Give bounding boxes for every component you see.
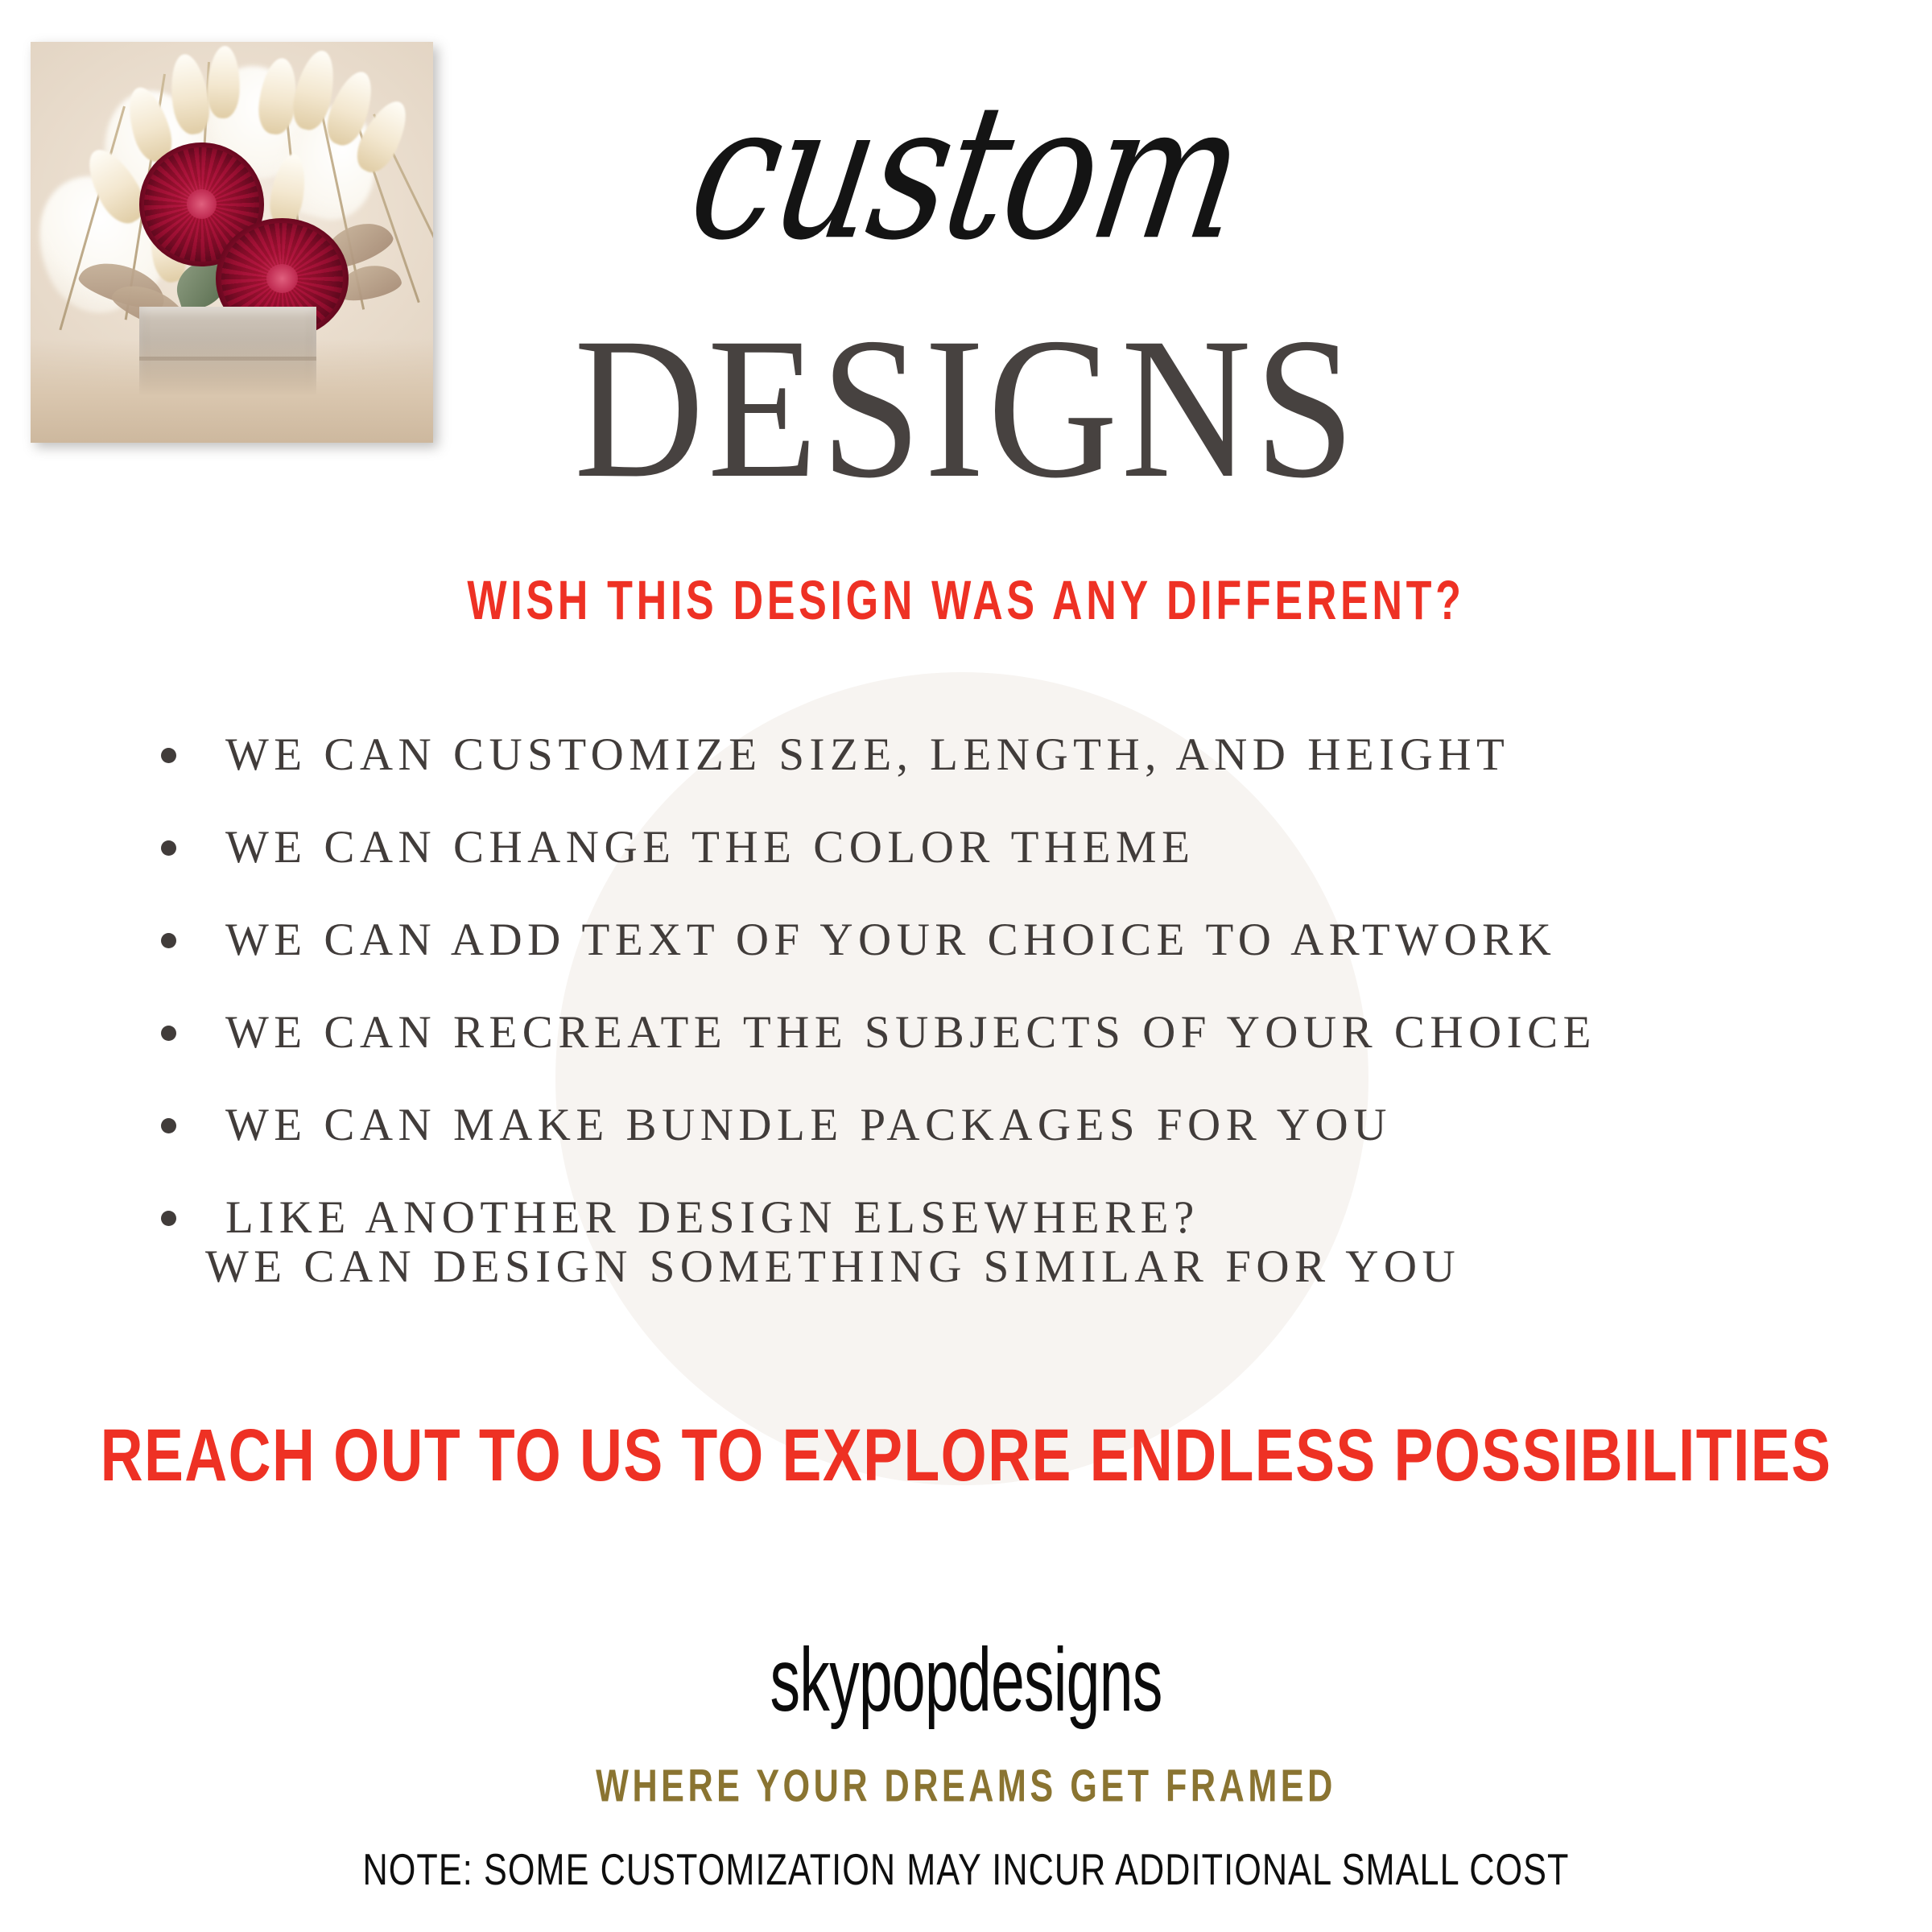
bullet-dot-icon (161, 933, 176, 948)
brand-tagline: WHERE YOUR DREAMS GET FRAMED (97, 1765, 1835, 1810)
list-item-label: WE CAN RECREATE THE SUBJECTS OF YOUR CHO… (225, 1009, 1596, 1055)
list-continuation-line: WE CAN DESIGN SOMETHING SIMILAR FOR YOU (205, 1244, 1460, 1290)
script-headline-custom: custom (0, 80, 1932, 266)
list-item-label: LIKE ANOTHER DESIGN ELSEWHERE? (225, 1195, 1199, 1241)
red-subtitle-question: WISH THIS DESIGN WAS ANY DIFFERENT? (68, 573, 1864, 628)
bullet-dot-icon (161, 840, 176, 856)
bullet-dot-icon (161, 1211, 176, 1226)
custom-designs-poster: custom DESIGNS WISH THIS DESIGN WAS ANY … (0, 0, 1932, 1932)
page-title-designs: DESIGNS (0, 308, 1932, 510)
list-item: WE CAN CUSTOMIZE SIZE, LENGTH, AND HEIGH… (153, 708, 1843, 801)
list-item: WE CAN ADD TEXT OF YOUR CHOICE TO ARTWOR… (153, 894, 1843, 986)
list-item-label: WE CAN MAKE BUNDLE PACKAGES FOR YOU (225, 1102, 1392, 1148)
bullet-dot-icon (161, 1026, 176, 1041)
list-item: WE CAN CHANGE THE COLOR THEME (153, 801, 1843, 894)
footer-note: NOTE: SOME CUSTOMIZATION MAY INCUR ADDIT… (97, 1849, 1835, 1893)
list-item-label: WE CAN CHANGE THE COLOR THEME (225, 824, 1195, 870)
list-item-label: WE CAN CUSTOMIZE SIZE, LENGTH, AND HEIGH… (225, 732, 1509, 778)
bullet-dot-icon (161, 1118, 176, 1133)
list-item: WE CAN RECREATE THE SUBJECTS OF YOUR CHO… (153, 986, 1843, 1079)
customization-options-list: WE CAN CUSTOMIZE SIZE, LENGTH, AND HEIGH… (153, 708, 1843, 1264)
call-to-action-text: REACH OUT TO US TO EXPLORE ENDLESS POSSI… (58, 1418, 1874, 1492)
brand-logo-wordmark: skypopdesigns (193, 1636, 1739, 1725)
bullet-dot-icon (161, 748, 176, 763)
list-item: WE CAN MAKE BUNDLE PACKAGES FOR YOU (153, 1079, 1843, 1171)
list-item-label: WE CAN ADD TEXT OF YOUR CHOICE TO ARTWOR… (225, 917, 1556, 963)
